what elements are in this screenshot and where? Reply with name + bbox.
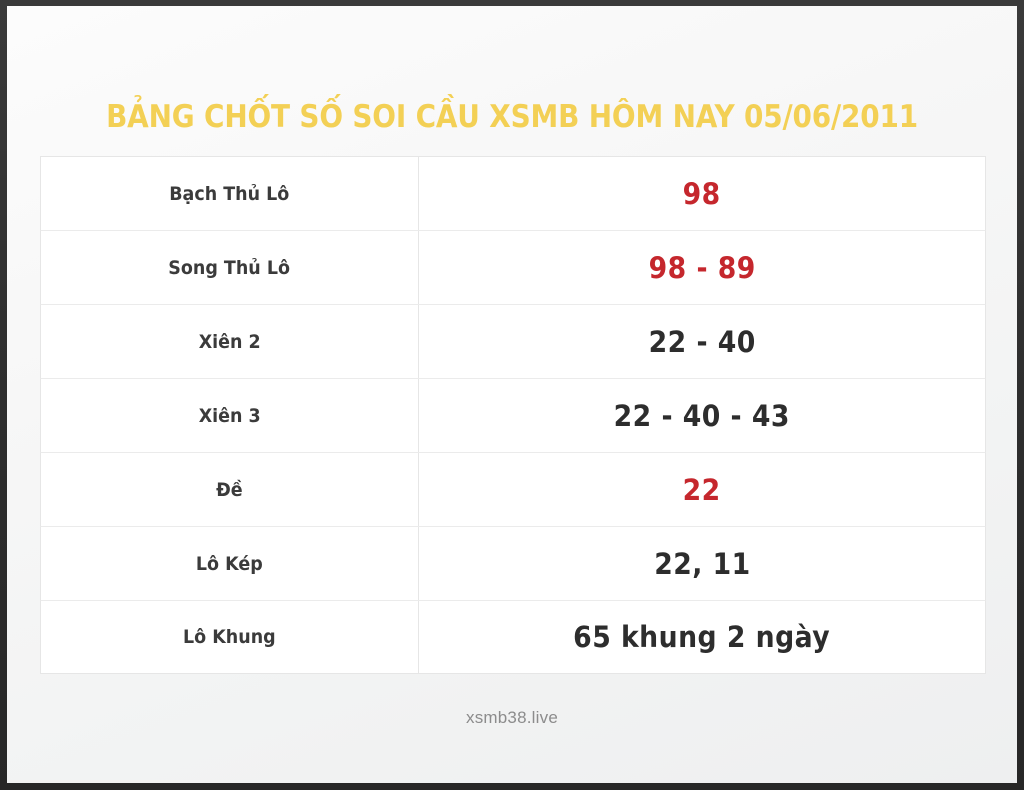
table-row: Lô Kép 22, 11 — [40, 526, 986, 600]
table-row: Đề 22 — [40, 452, 986, 526]
row-label-cell: Xiên 3 — [41, 379, 419, 452]
row-label-cell: Đề — [41, 453, 419, 526]
prediction-table: Bạch Thủ Lô 98 Song Thủ Lô 98 - 89 Xiên … — [40, 156, 986, 674]
row-value-cell: 22 - 40 - 43 — [419, 379, 985, 452]
row-value-cell: 22, 11 — [419, 527, 985, 600]
table-row: Xiên 2 22 - 40 — [40, 304, 986, 378]
table-row: Xiên 3 22 - 40 - 43 — [40, 378, 986, 452]
title-container: BẢNG CHỐT SỐ SOI CẦU XSMB HÔM NAY 05/06/… — [7, 78, 1017, 156]
page-title: BẢNG CHỐT SỐ SOI CẦU XSMB HÔM NAY 05/06/… — [106, 99, 918, 135]
site-watermark: xsmb38.live — [466, 708, 558, 727]
row-label: Lô Kép — [196, 553, 263, 575]
table-row: Bạch Thủ Lô 98 — [40, 156, 986, 230]
row-value-cell: 22 - 40 — [419, 305, 985, 378]
page-surface: BẢNG CHỐT SỐ SOI CẦU XSMB HÔM NAY 05/06/… — [7, 6, 1017, 783]
row-value: 22 - 40 - 43 — [614, 399, 790, 433]
row-label-cell: Xiên 2 — [41, 305, 419, 378]
footer: xsmb38.live — [7, 708, 1017, 728]
row-value: 98 - 89 — [648, 251, 755, 285]
table-row: Lô Khung 65 khung 2 ngày — [40, 600, 986, 674]
row-label-cell: Song Thủ Lô — [41, 231, 419, 304]
row-value-cell: 65 khung 2 ngày — [419, 601, 985, 673]
table-row: Song Thủ Lô 98 - 89 — [40, 230, 986, 304]
row-value-cell: 98 — [419, 157, 985, 230]
row-value: 65 khung 2 ngày — [574, 620, 831, 654]
row-value-cell: 22 — [419, 453, 985, 526]
row-value: 22 - 40 — [648, 325, 755, 359]
row-value: 22, 11 — [654, 547, 750, 581]
row-value-cell: 98 - 89 — [419, 231, 985, 304]
row-label: Lô Khung — [183, 626, 276, 648]
image-frame: BẢNG CHỐT SỐ SOI CẦU XSMB HÔM NAY 05/06/… — [0, 0, 1024, 790]
row-label: Xiên 3 — [198, 405, 260, 427]
row-value: 98 — [683, 177, 721, 211]
row-label-cell: Lô Kép — [41, 527, 419, 600]
row-label: Bạch Thủ Lô — [169, 183, 289, 205]
row-value: 22 — [683, 473, 721, 507]
row-label-cell: Lô Khung — [41, 601, 419, 673]
row-label: Đề — [216, 479, 243, 501]
row-label: Xiên 2 — [198, 331, 260, 353]
row-label-cell: Bạch Thủ Lô — [41, 157, 419, 230]
row-label: Song Thủ Lô — [169, 257, 291, 279]
